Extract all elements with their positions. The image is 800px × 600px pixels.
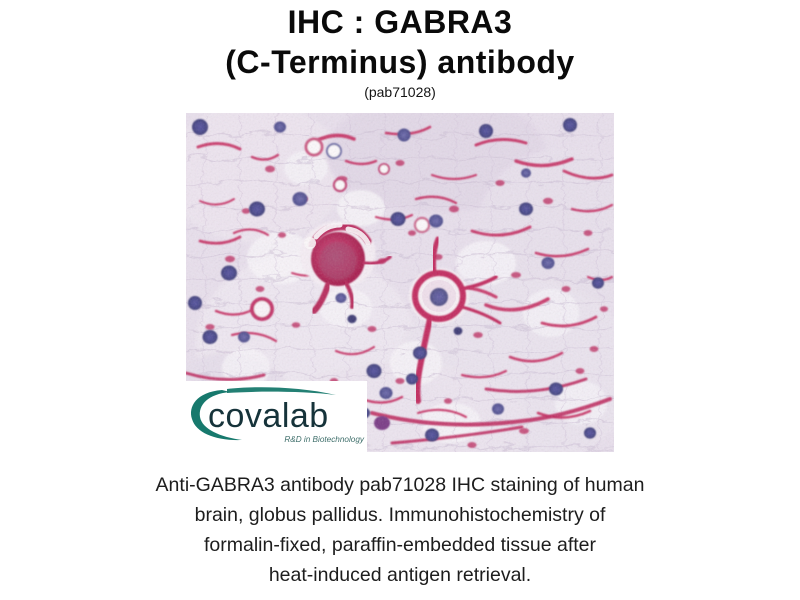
product-figure-page: IHC : GABRA3 (C-Terminus) antibody (pab7…: [0, 0, 800, 600]
figure-caption: Anti-GABRA3 antibody pab71028 IHC staini…: [80, 470, 720, 590]
page-title-line-2: (C-Terminus) antibody: [0, 42, 800, 82]
covalab-logo: covalab R&D in Biotechnology: [186, 381, 367, 452]
caption-line-3: formalin-fixed, paraffin-embedded tissue…: [80, 530, 720, 560]
page-title-line-1: IHC : GABRA3: [0, 2, 800, 42]
covalab-logo-svg: covalab R&D in Biotechnology: [186, 381, 367, 452]
caption-line-2: brain, globus pallidus. Immunohistochemi…: [80, 500, 720, 530]
caption-line-4: heat-induced antigen retrieval.: [80, 560, 720, 590]
catalog-number: (pab71028): [0, 83, 800, 101]
page-header: IHC : GABRA3 (C-Terminus) antibody (pab7…: [0, 2, 800, 101]
covalab-tagline: R&D in Biotechnology: [284, 435, 365, 444]
caption-line-1: Anti-GABRA3 antibody pab71028 IHC staini…: [80, 470, 720, 500]
covalab-wordmark: covalab: [208, 397, 329, 435]
